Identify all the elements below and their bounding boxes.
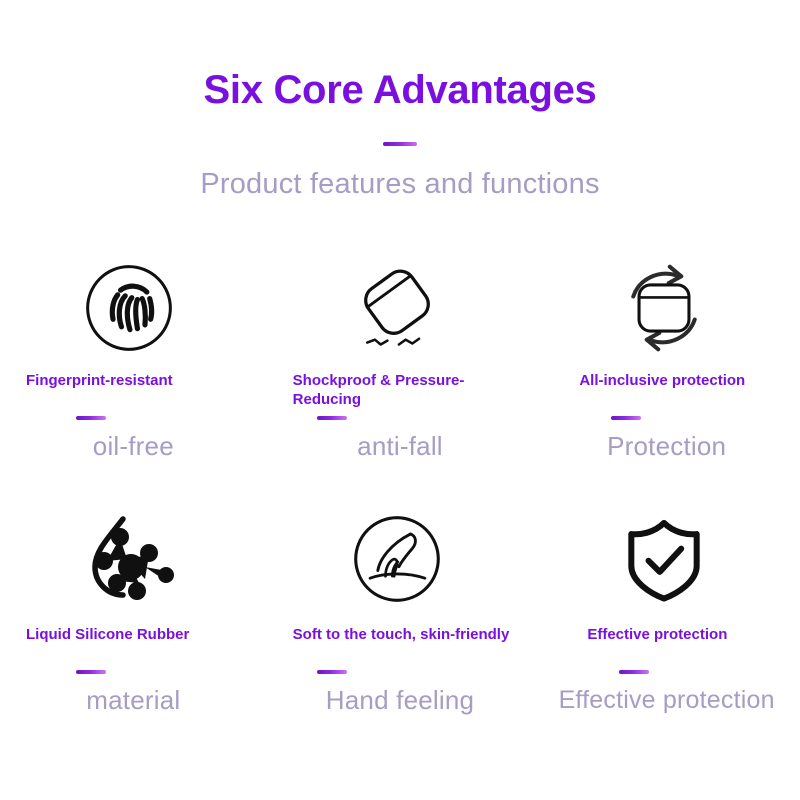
- feature-subtext: Hand feeling: [285, 686, 516, 716]
- shockproof-case-icon: [279, 252, 516, 364]
- feature-card-shockproof: Shockproof & Pressure-Reducing anti-fall: [267, 252, 534, 500]
- features-grid: Fingerprint-resistant oil-free Shockproo…: [0, 252, 800, 748]
- feature-subtext: anti-fall: [285, 432, 516, 462]
- feature-subtext: oil-free: [18, 432, 249, 462]
- feature-divider: [317, 416, 347, 420]
- feature-card-all-inclusive-protection: All-inclusive protection Protection: [533, 252, 800, 500]
- feature-card-effective-protection: Effective protection Effective protectio…: [533, 500, 800, 748]
- fingerprint-icon: [10, 252, 249, 364]
- feature-card-fingerprint-resistant: Fingerprint-resistant oil-free: [0, 252, 267, 500]
- feature-card-soft-touch: Soft to the touch, skin-friendly Hand fe…: [267, 500, 534, 748]
- page-title: Six Core Advantages: [0, 68, 800, 112]
- feature-divider: [76, 416, 106, 420]
- feature-divider: [611, 416, 641, 420]
- feature-subtext: material: [18, 686, 249, 716]
- liquid-silicone-droplet-molecule-icon: [10, 500, 249, 618]
- feature-divider: [317, 670, 347, 674]
- feature-subtext: Effective protection: [551, 686, 782, 715]
- advantages-infographic: Six Core Advantages Product features and…: [0, 0, 800, 800]
- page-subtitle: Product features and functions: [0, 168, 800, 201]
- feature-label: Shockproof & Pressure-Reducing: [285, 372, 516, 410]
- feature-label: Fingerprint-resistant: [18, 372, 249, 410]
- title-divider: [383, 142, 417, 146]
- feature-label: Liquid Silicone Rubber: [18, 626, 249, 664]
- feature-label: Soft to the touch, skin-friendly: [285, 626, 516, 664]
- shield-check-icon: [545, 500, 782, 618]
- feature-subtext: Protection: [551, 432, 782, 462]
- feature-label: All-inclusive protection: [551, 372, 782, 410]
- feature-divider: [76, 670, 106, 674]
- header: Six Core Advantages Product features and…: [0, 0, 800, 201]
- feature-divider: [619, 670, 649, 674]
- feature-label: Effective protection: [551, 626, 782, 664]
- feature-card-liquid-silicone-rubber: Liquid Silicone Rubber material: [0, 500, 267, 748]
- all-inclusive-rotation-icon: [545, 252, 782, 364]
- hand-touch-icon: [279, 500, 516, 618]
